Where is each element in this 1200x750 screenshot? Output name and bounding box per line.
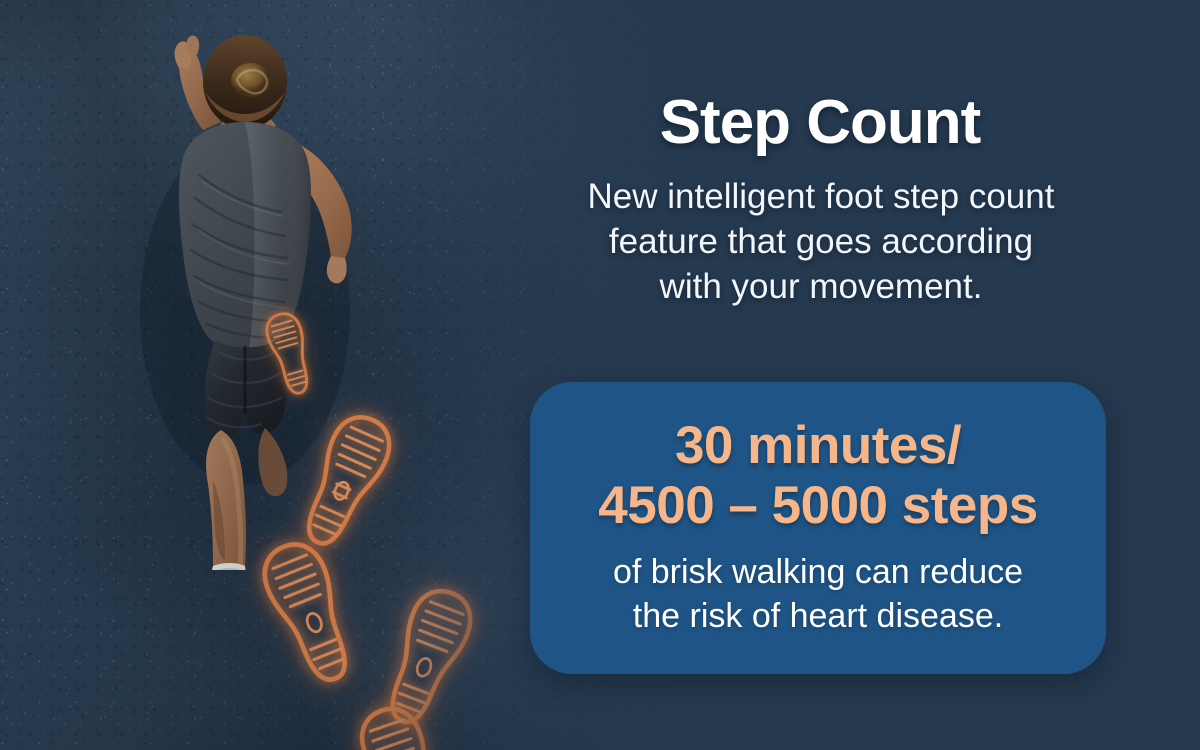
step-count-promo-graphic: Step Count New intelligent foot step cou… [0, 0, 1200, 750]
stat-card: 30 minutes/ 4500 – 5000 steps of brisk w… [530, 382, 1106, 674]
note-line-2: the risk of heart disease. [613, 594, 1023, 638]
note-line-1: of brisk walking can reduce [613, 550, 1023, 594]
subtitle-line-1: New intelligent foot step count [530, 175, 1112, 220]
page-title: Step Count [520, 92, 1120, 154]
stat-line-2: 4500 – 5000 steps [598, 476, 1037, 536]
stat-card-content: 30 minutes/ 4500 – 5000 steps of brisk w… [530, 382, 1106, 674]
stat-card-note: of brisk walking can reduce the risk of … [613, 550, 1023, 638]
page-subtitle: New intelligent foot step count feature … [530, 175, 1112, 309]
subtitle-line-3: with your movement. [530, 265, 1112, 310]
stat-line-1: 30 minutes/ [598, 416, 1037, 476]
subtitle-line-2: feature that goes according [530, 220, 1112, 265]
stat-highlight: 30 minutes/ 4500 – 5000 steps [598, 416, 1037, 536]
